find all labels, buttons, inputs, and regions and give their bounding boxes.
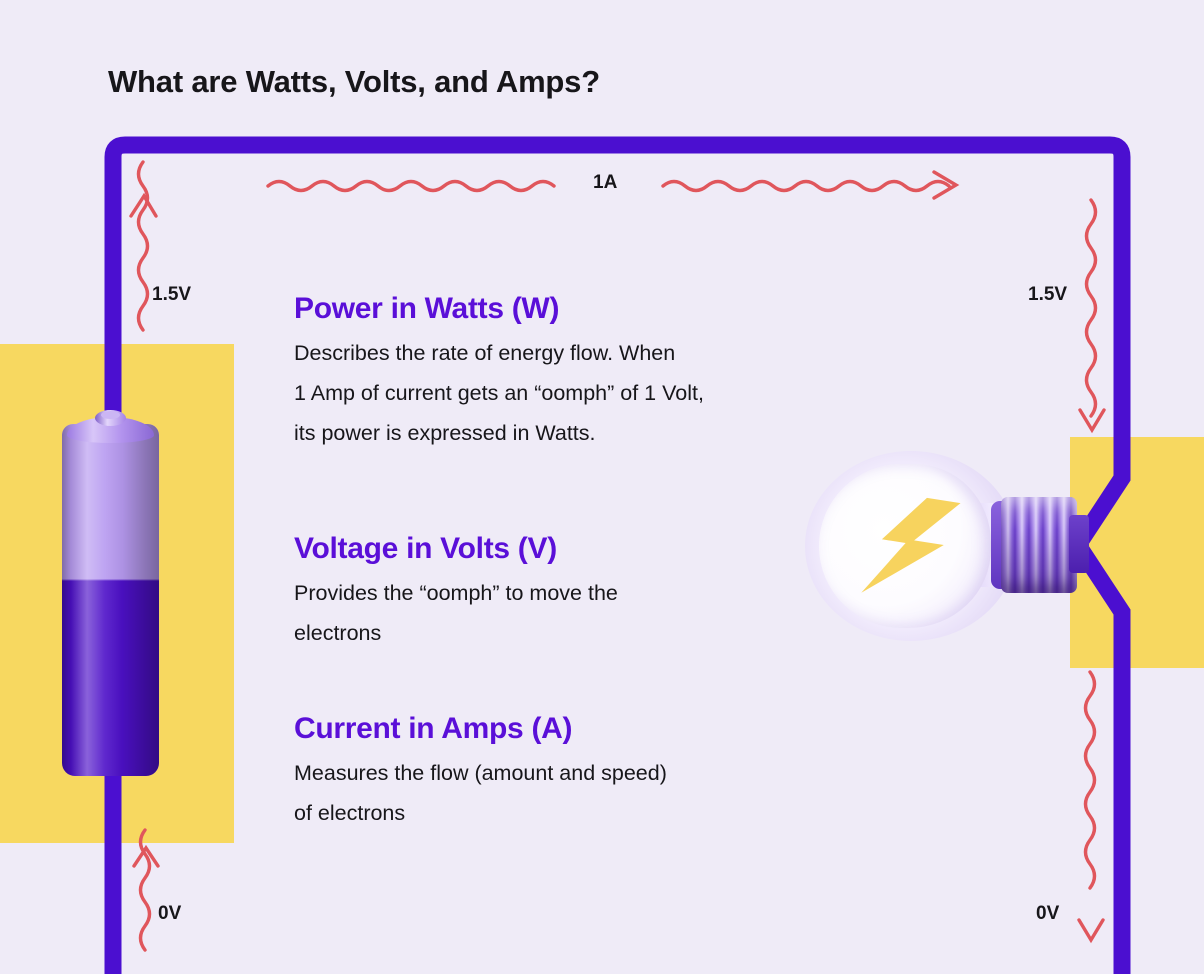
section-body: Provides the “oomph” to move the electro… (294, 574, 618, 654)
infographic-canvas: What are Watts, Volts, and Amps? Power i… (0, 0, 1204, 974)
section-voltage-in-volts: Voltage in Volts (V) Provides the “oomph… (294, 532, 618, 654)
section-body: Describes the rate of energy flow. When … (294, 334, 704, 454)
label-current-top: 1A (593, 172, 617, 194)
label-voltage-right: 1.5V (1028, 284, 1067, 306)
page-title: What are Watts, Volts, and Amps? (108, 64, 600, 100)
section-body: Measures the flow (amount and speed) of … (294, 754, 667, 834)
section-current-in-amps: Current in Amps (A) Measures the flow (a… (294, 712, 667, 834)
text-content: What are Watts, Volts, and Amps? Power i… (0, 0, 1204, 974)
label-ground-left: 0V (158, 903, 181, 925)
section-heading: Current in Amps (A) (294, 712, 667, 746)
label-ground-right: 0V (1036, 903, 1059, 925)
section-heading: Power in Watts (W) (294, 292, 704, 326)
label-voltage-left: 1.5V (152, 284, 191, 306)
section-power-in-watts: Power in Watts (W) Describes the rate of… (294, 292, 704, 454)
section-heading: Voltage in Volts (V) (294, 532, 618, 566)
